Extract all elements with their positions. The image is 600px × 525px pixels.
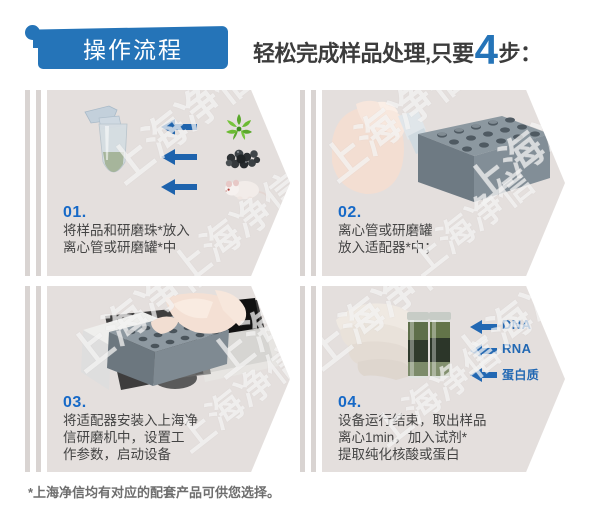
step-02-line-2: 放入适配器*中； <box>338 239 563 256</box>
output-label-dna: DNA <box>502 317 531 332</box>
step-01-illustration <box>47 90 290 208</box>
output-row-dna: DNA <box>502 317 531 332</box>
output-row-rna: RNA <box>502 341 531 356</box>
step-04-line-1: 设备运行结束，取出样品 <box>338 412 563 429</box>
output-row-protein: 蛋白质 <box>502 366 539 383</box>
step-card-03: 03. 将适配器安装入上海净 信研磨机中，设置工 作参数，启动设备 上海净信 上… <box>25 286 290 472</box>
headline-step-count: 4 <box>475 33 498 67</box>
mouse-icon <box>225 180 268 200</box>
output-label-protein: 蛋白质 <box>502 366 539 383</box>
step-04-number: 04. <box>338 394 563 412</box>
step-card-02: 02. 离心管或研磨罐 放入适配器*中； 上海净信 上海净信 上海净信 <box>300 90 565 276</box>
steps-grid: 01. 将样品和研磨珠*放入 离心管或研磨罐*中 上海净信 上海净信 <box>0 86 600 476</box>
step-04-illustration: DNA RNA 蛋白质 <box>322 286 565 404</box>
grinding-beads-icon <box>226 150 260 169</box>
step-03-line-1: 将适配器安装入上海净 <box>63 412 288 429</box>
step-card-03-body: 03. 将适配器安装入上海净 信研磨机中，设置工 作参数，启动设备 上海净信 上… <box>47 286 290 472</box>
step-card-02-body: 02. 离心管或研磨罐 放入适配器*中； 上海净信 上海净信 上海净信 <box>322 90 565 276</box>
hand-with-adapter-block-graphic <box>322 90 565 208</box>
step-01-caption: 01. 将样品和研磨珠*放入 离心管或研磨罐*中 <box>63 204 288 256</box>
card-stripe-inner <box>36 90 41 276</box>
card-stripe-inner <box>311 90 316 276</box>
step-02-illustration <box>322 90 565 208</box>
step-03-line-3: 作参数，启动设备 <box>63 446 288 463</box>
step-card-04-body: DNA RNA 蛋白质 04. 设备运行结束，取出样品 离心1min，加入试剂*… <box>322 286 565 472</box>
hand-mounting-adapter-graphic <box>47 286 290 404</box>
headline-suffix: 步： <box>498 36 541 68</box>
step-03-caption: 03. 将适配器安装入上海净 信研磨机中，设置工 作参数，启动设备 <box>63 394 288 463</box>
step-card-04: DNA RNA 蛋白质 04. 设备运行结束，取出样品 离心1min，加入试剂*… <box>300 286 565 472</box>
banner-label: 操作流程 <box>38 26 228 69</box>
step-02-number: 02. <box>338 204 563 222</box>
step-03-line-2: 信研磨机中，设置工 <box>63 429 288 446</box>
step-01-number: 01. <box>63 204 288 222</box>
card-stripe-outer <box>300 286 305 472</box>
step-03-number: 03. <box>63 394 288 412</box>
step-02-line-1: 离心管或研磨罐 <box>338 222 563 239</box>
step-04-line-3: 提取纯化核酸或蛋白 <box>338 446 563 463</box>
card-stripe-inner <box>311 286 316 472</box>
card-stripe-inner <box>36 286 41 472</box>
step-card-01-body: 01. 将样品和研磨珠*放入 离心管或研磨罐*中 上海净信 上海净信 <box>47 90 290 276</box>
footnote: *上海净信均有对应的配套产品可供您选择。 <box>28 482 280 501</box>
step-03-illustration <box>47 286 290 404</box>
page-headline: 轻松完成样品处理,只要 4 步： <box>253 30 542 68</box>
card-stripe-outer <box>300 90 305 276</box>
step-04-line-2: 离心1min，加入试剂* <box>338 429 563 446</box>
tube-and-samples-graphic <box>47 90 290 208</box>
step-04-caption: 04. 设备运行结束，取出样品 离心1min，加入试剂* 提取纯化核酸或蛋白 <box>338 394 563 463</box>
card-stripe-outer <box>25 286 30 472</box>
step-01-line-2: 离心管或研磨罐*中 <box>63 239 288 256</box>
output-label-rna: RNA <box>502 341 531 356</box>
headline-prefix: 轻松完成样品处理,只要 <box>253 36 474 68</box>
step-01-line-1: 将样品和研磨珠*放入 <box>63 222 288 239</box>
page-header: 操作流程 轻松完成样品处理,只要 4 步： <box>0 0 600 86</box>
leaf-icon <box>226 114 252 140</box>
step-card-01: 01. 将样品和研磨珠*放入 离心管或研磨罐*中 上海净信 上海净信 <box>25 90 290 276</box>
card-stripe-outer <box>25 90 30 276</box>
step-02-caption: 02. 离心管或研磨罐 放入适配器*中； <box>338 204 563 256</box>
